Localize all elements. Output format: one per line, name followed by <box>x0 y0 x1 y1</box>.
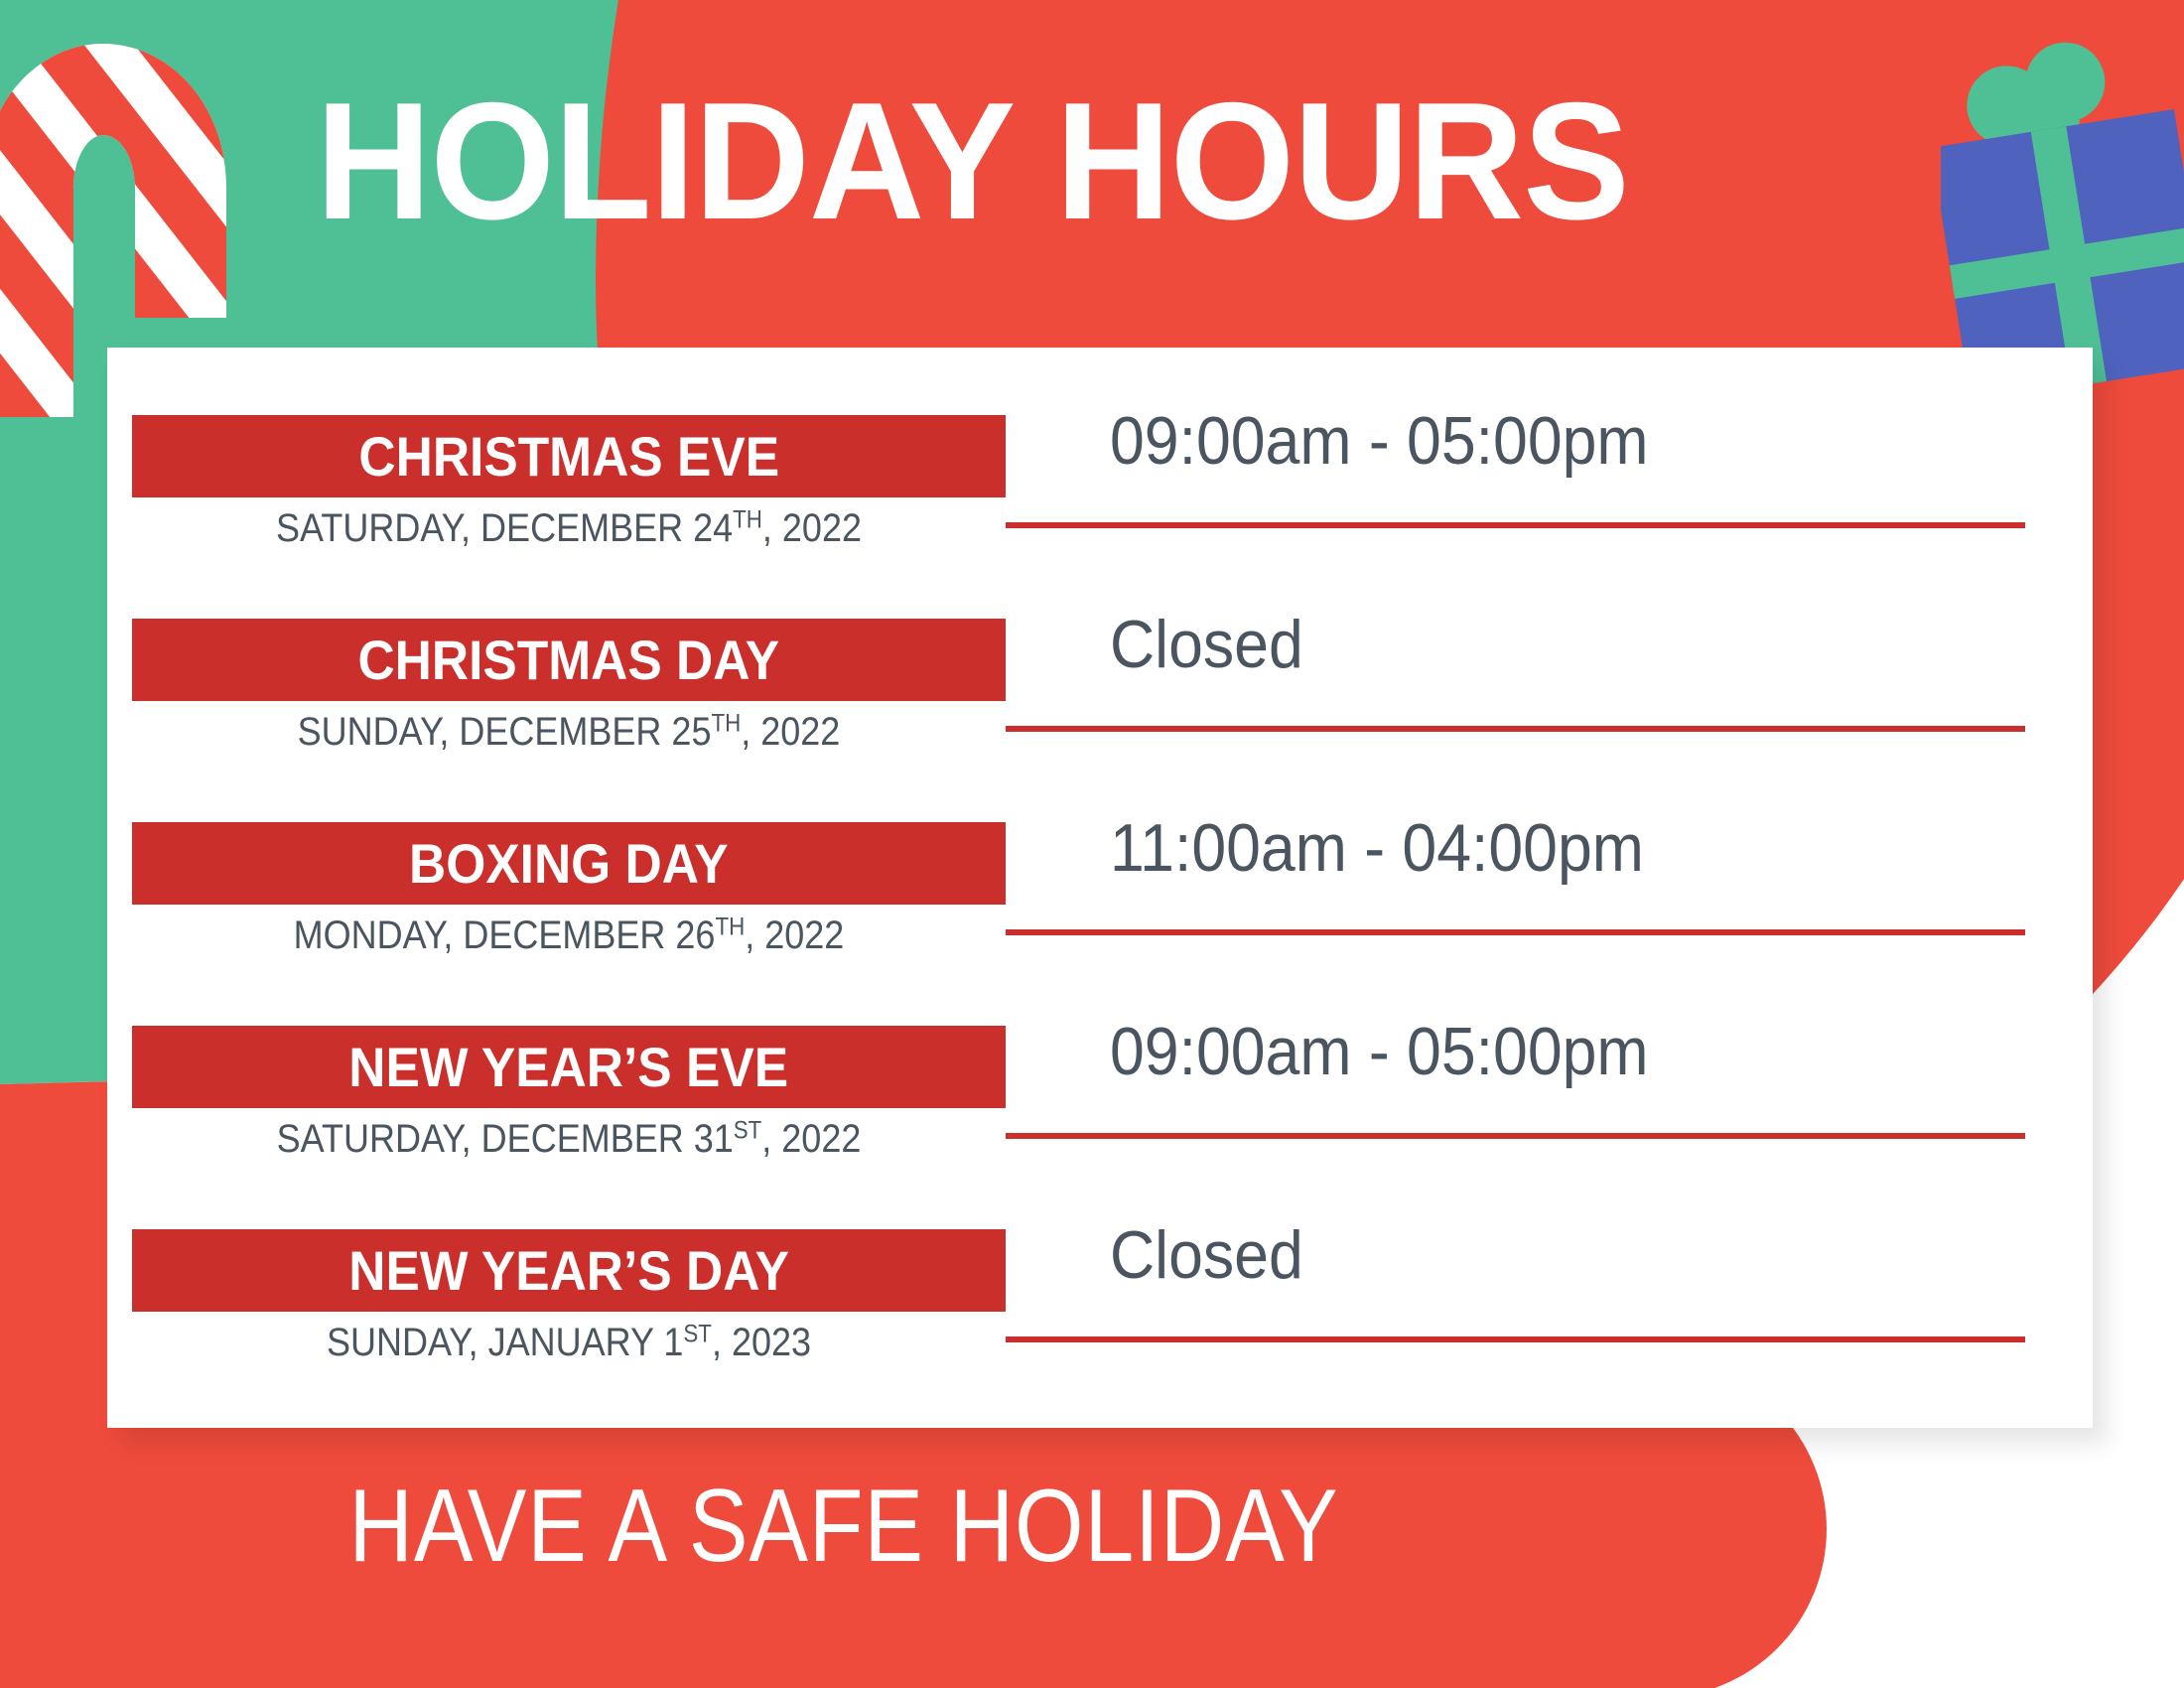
date-ordinal: TH <box>715 914 745 940</box>
date-prefix: SUNDAY, JANUARY 1 <box>327 1321 683 1364</box>
row-divider <box>1006 1133 2025 1139</box>
date-suffix: , 2023 <box>712 1321 811 1364</box>
holiday-name-bar: NEW YEAR’S EVE <box>132 1026 1006 1108</box>
row-divider <box>1006 1336 2025 1342</box>
table-row: BOXING DAY MONDAY, DECEMBER 26TH, 2022 1… <box>107 755 2093 958</box>
holiday-hours-value: Closed <box>1110 1216 1303 1294</box>
holiday-name-label: NEW YEAR’S DAY <box>348 1238 789 1303</box>
hours-card: CHRISTMAS EVE SATURDAY, DECEMBER 24TH, 2… <box>107 348 2093 1428</box>
footer-tagline: HAVE A SAFE HOLIDAY <box>118 1468 1570 1586</box>
holiday-name-bar: BOXING DAY <box>132 822 1006 905</box>
holiday-date-label: SUNDAY, JANUARY 1ST, 2023 <box>176 1321 962 1365</box>
holiday-name-label: CHRISTMAS DAY <box>358 628 780 692</box>
holiday-hours-value: Closed <box>1110 606 1303 683</box>
table-row: CHRISTMAS EVE SATURDAY, DECEMBER 24TH, 2… <box>107 348 2093 551</box>
holiday-date-label: MONDAY, DECEMBER 26TH, 2022 <box>176 914 962 958</box>
table-row: NEW YEAR’S DAY SUNDAY, JANUARY 1ST, 2023… <box>107 1162 2093 1385</box>
date-suffix: , 2022 <box>761 1117 861 1161</box>
holiday-name-bar: CHRISTMAS DAY <box>132 619 1006 701</box>
holiday-name-label: BOXING DAY <box>409 831 729 896</box>
date-ordinal: ST <box>734 1117 762 1144</box>
date-suffix: , 2022 <box>745 914 844 957</box>
date-prefix: SUNDAY, DECEMBER 25 <box>298 710 712 754</box>
holiday-date-label: SATURDAY, DECEMBER 31ST, 2022 <box>176 1117 962 1162</box>
date-suffix: , 2022 <box>762 506 862 550</box>
holiday-hours-value: 09:00am - 05:00pm <box>1110 402 1649 480</box>
date-prefix: SATURDAY, DECEMBER 31 <box>277 1117 734 1161</box>
holiday-name-label: NEW YEAR’S EVE <box>349 1035 789 1099</box>
date-ordinal: TH <box>711 710 741 737</box>
date-ordinal: ST <box>683 1321 712 1347</box>
date-prefix: MONDAY, DECEMBER 26 <box>294 914 716 957</box>
date-ordinal: TH <box>733 506 762 533</box>
holiday-name-label: CHRISTMAS EVE <box>358 424 779 489</box>
row-divider <box>1006 522 2025 528</box>
row-divider <box>1006 726 2025 732</box>
table-row: NEW YEAR’S EVE SATURDAY, DECEMBER 31ST, … <box>107 958 2093 1162</box>
row-divider <box>1006 929 2025 935</box>
holiday-name-bar: NEW YEAR’S DAY <box>132 1229 1006 1312</box>
hours-list: CHRISTMAS EVE SATURDAY, DECEMBER 24TH, 2… <box>107 348 2093 1385</box>
date-prefix: SATURDAY, DECEMBER 24 <box>276 506 733 550</box>
date-suffix: , 2022 <box>741 710 840 754</box>
page-title: HOLIDAY HOURS <box>316 77 1859 244</box>
holiday-hours-poster: HOLIDAY HOURS CHRISTMAS EVE SATURDAY, DE… <box>0 0 2184 1688</box>
holiday-date-label: SUNDAY, DECEMBER 25TH, 2022 <box>176 710 962 755</box>
holiday-hours-value: 11:00am - 04:00pm <box>1110 809 1644 887</box>
holiday-hours-value: 09:00am - 05:00pm <box>1110 1013 1649 1090</box>
holiday-date-label: SATURDAY, DECEMBER 24TH, 2022 <box>176 506 962 551</box>
gift-box-icon <box>1941 40 2184 387</box>
holiday-name-bar: CHRISTMAS EVE <box>132 415 1006 497</box>
table-row: CHRISTMAS DAY SUNDAY, DECEMBER 25TH, 202… <box>107 551 2093 755</box>
